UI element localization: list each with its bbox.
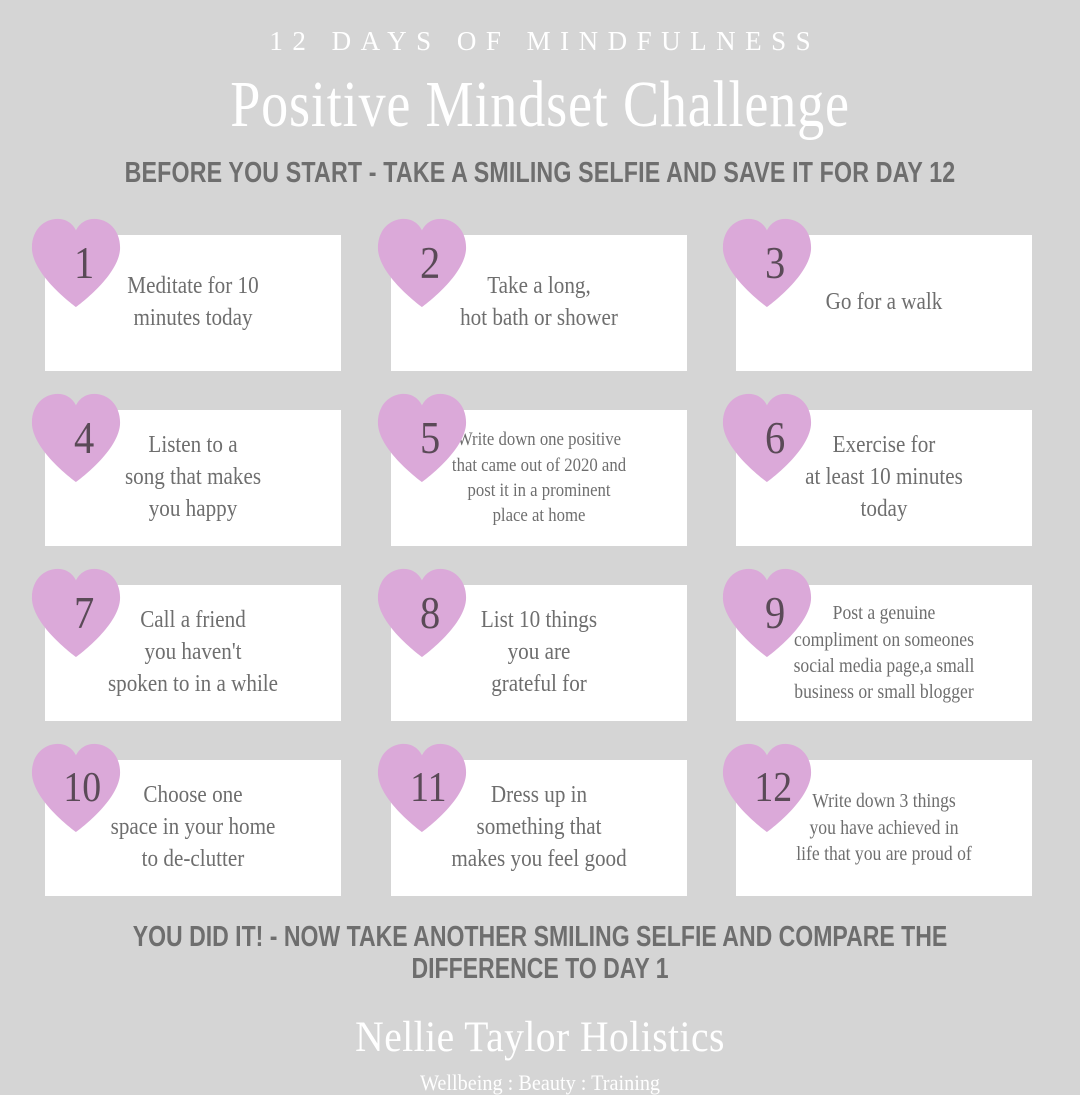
poster-footer: YOU DID IT! - NOW TAKE ANOTHER SMILING S…	[0, 922, 1080, 1095]
challenge-cell-1: Meditate for 10 minutes today1	[45, 235, 341, 371]
challenge-cell-7: Call a friend you haven't spoken to in a…	[45, 585, 341, 721]
challenge-card-text: Call a friend you haven't spoken to in a…	[70, 605, 316, 701]
challenge-cell-5: Write down one positive that came out of…	[391, 410, 687, 546]
page-title: Positive Mindset Challenge	[97, 69, 983, 142]
challenge-card-text: Write down one positive that came out of…	[415, 427, 661, 528]
challenge-card-text: Listen to a song that makes you happy	[70, 430, 316, 526]
challenge-cell-11: Dress up in something that makes you fee…	[391, 760, 687, 896]
header-subtitle: BEFORE YOU START - TAKE A SMILING SELFIE…	[108, 158, 972, 190]
challenge-card-text: Write down 3 things you have achieved in…	[761, 788, 1007, 867]
challenge-card[interactable]: Take a long, hot bath or shower	[391, 235, 687, 371]
eyebrow-text: 12 DAYS OF MINDFULNESS	[0, 28, 1080, 55]
challenge-card[interactable]: Write down 3 things you have achieved in…	[736, 760, 1032, 896]
challenge-card[interactable]: Go for a walk	[736, 235, 1032, 371]
challenge-cell-4: Listen to a song that makes you happy4	[45, 410, 341, 546]
challenge-cell-10: Choose one space in your home to de-clut…	[45, 760, 341, 896]
challenge-card[interactable]: Exercise for at least 10 minutes today	[736, 410, 1032, 546]
challenge-cell-8: List 10 things you are grateful for8	[391, 585, 687, 721]
challenge-card-text: Dress up in something that makes you fee…	[415, 780, 661, 876]
challenge-card[interactable]: List 10 things you are grateful for	[391, 585, 687, 721]
challenge-card[interactable]: Post a genuine compliment on someones so…	[736, 585, 1032, 721]
brand-name: Nellie Taylor Holistics	[43, 1014, 1037, 1061]
challenge-card[interactable]: Choose one space in your home to de-clut…	[45, 760, 341, 896]
poster-canvas: { "colors": { "background": "#d5d5d5", "…	[0, 0, 1080, 1080]
challenge-row: Choose one space in your home to de-clut…	[45, 760, 1032, 935]
challenge-row: Meditate for 10 minutes today1Take a lon…	[45, 235, 1032, 410]
challenge-card-text: Choose one space in your home to de-clut…	[70, 780, 316, 876]
challenge-cell-3: Go for a walk3	[736, 235, 1032, 371]
challenge-cell-6: Exercise for at least 10 minutes today6	[736, 410, 1032, 546]
brand-tagline: Wellbeing : Beauty : Training	[43, 1071, 1037, 1095]
challenge-card[interactable]: Call a friend you haven't spoken to in a…	[45, 585, 341, 721]
challenge-card[interactable]: Meditate for 10 minutes today	[45, 235, 341, 371]
challenge-card-text: Go for a walk	[761, 287, 1007, 319]
challenge-cell-2: Take a long, hot bath or shower2	[391, 235, 687, 371]
challenge-cell-12: Write down 3 things you have achieved in…	[736, 760, 1032, 896]
challenge-card-text: List 10 things you are grateful for	[415, 605, 661, 701]
challenge-cell-9: Post a genuine compliment on someones so…	[736, 585, 1032, 721]
challenge-row: Listen to a song that makes you happy4Wr…	[45, 410, 1032, 585]
challenge-card-text: Take a long, hot bath or shower	[415, 271, 661, 335]
challenge-card-text: Post a genuine compliment on someones so…	[761, 600, 1007, 706]
challenge-card[interactable]: Listen to a song that makes you happy	[45, 410, 341, 546]
challenge-card-text: Meditate for 10 minutes today	[70, 271, 316, 335]
challenge-row: Call a friend you haven't spoken to in a…	[45, 585, 1032, 760]
closing-line: YOU DID IT! - NOW TAKE ANOTHER SMILING S…	[111, 922, 970, 986]
challenge-card-text: Exercise for at least 10 minutes today	[761, 430, 1007, 526]
challenge-grid: Meditate for 10 minutes today1Take a lon…	[45, 235, 1032, 935]
poster-header: 12 DAYS OF MINDFULNESS Positive Mindset …	[0, 0, 1080, 189]
challenge-card[interactable]: Write down one positive that came out of…	[391, 410, 687, 546]
challenge-card[interactable]: Dress up in something that makes you fee…	[391, 760, 687, 896]
